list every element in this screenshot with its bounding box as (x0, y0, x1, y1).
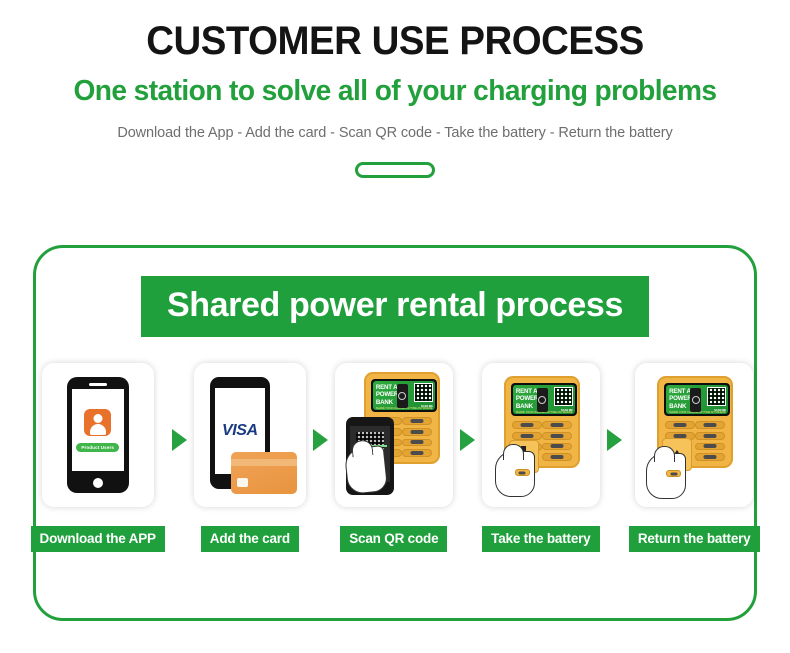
battery-slot (542, 443, 572, 451)
battery-slot (402, 428, 432, 436)
step-2-illustration-card: VISA (194, 363, 306, 507)
battery-slot (695, 421, 725, 429)
step-1-label: Download the APP (31, 526, 165, 552)
avatar-body-shape (90, 424, 106, 435)
kiosk-display-content: RENT A POWER BANK SHARE YOUR CHARGE ANYT… (666, 385, 728, 414)
battery-slot (695, 432, 725, 440)
kiosk-display-content: RENT A POWER BANK SHARE YOUR CHARGE ANYT… (513, 385, 575, 414)
battery-slot (402, 449, 432, 457)
step-add-the-card[interactable]: VISA Add the card (194, 363, 306, 552)
battery-slot (512, 421, 542, 429)
card-stripe-shape (231, 459, 297, 466)
step-5-label: Return the battery (629, 526, 760, 552)
arrow-right-icon-2 (313, 429, 328, 451)
step-take-the-battery[interactable]: RENT A POWER BANK SHARE YOUR CHARGE ANYT… (482, 363, 600, 552)
step-2-label: Add the card (201, 526, 299, 552)
kiosk-illustration: RENT A POWER BANK SHARE YOUR CHARGE ANYT… (638, 365, 750, 505)
step-4-label: Take the battery (482, 526, 599, 552)
credit-card-icon (231, 452, 297, 494)
arrow-right-icon-1 (172, 429, 187, 451)
battery-slot (402, 439, 432, 447)
page-header: CUSTOMER USE PROCESS One station to solv… (0, 0, 790, 178)
qr-scan-label: SCAN ME (421, 405, 433, 408)
section-banner: Shared power rental process (141, 276, 649, 337)
power-bank-product-icon (397, 384, 408, 408)
slot-column-right (542, 421, 572, 461)
step-4-illustration-card: RENT A POWER BANK SHARE YOUR CHARGE ANYT… (482, 363, 600, 507)
qr-code-icon (707, 387, 726, 406)
power-bank-product-icon (537, 388, 548, 412)
step-return-the-battery[interactable]: RENT A POWER BANK SHARE YOUR CHARGE ANYT… (629, 363, 760, 552)
kiosk-display: RENT A POWER BANK SHARE YOUR CHARGE ANYT… (371, 379, 437, 412)
steps-row: Product Users Download the APP VISA (36, 363, 754, 552)
hand-icon (344, 445, 389, 495)
step-1-illustration-card: Product Users (42, 363, 154, 507)
qr-scan-label: SCAN ME (714, 409, 726, 412)
battery-slot (402, 417, 432, 425)
visa-logo: VISA (222, 422, 258, 440)
battery-slot (512, 432, 542, 440)
slot-column-right (695, 421, 725, 461)
kiosk-illustration: RENT A POWER BANK SHARE YOUR CHARGE ANYT… (485, 365, 597, 505)
slot-column-right (402, 417, 432, 457)
battery-unit-icon (666, 470, 681, 477)
banner-container: Shared power rental process (36, 276, 754, 337)
qr-code-icon (414, 383, 433, 402)
page-title: CUSTOMER USE PROCESS (16, 18, 774, 64)
step-scan-qr-code[interactable]: RENT A POWER BANK SHARE YOUR CHARGE ANYT… (335, 363, 453, 552)
battery-slot (695, 453, 725, 461)
kiosk-display: RENT A POWER BANK SHARE YOUR CHARGE ANYT… (664, 383, 730, 416)
avatar-head-shape (93, 414, 102, 423)
page-subtitle: One station to solve all of your chargin… (12, 74, 778, 109)
battery-slot (542, 432, 572, 440)
battery-unit-icon (515, 469, 530, 476)
product-users-badge: Product Users (76, 443, 119, 452)
power-bank-product-icon (690, 388, 701, 412)
user-avatar-icon (84, 409, 111, 436)
battery-slot (542, 421, 572, 429)
kiosk-display-content: RENT A POWER BANK SHARE YOUR CHARGE ANYT… (373, 381, 435, 410)
phone-home-button-icon (93, 478, 103, 488)
visa-illustration: VISA (198, 370, 302, 500)
battery-slot (665, 421, 695, 429)
kiosk-illustration: RENT A POWER BANK SHARE YOUR CHARGE ANYT… (338, 365, 450, 505)
qr-scan-label: SCAN ME (561, 409, 573, 412)
arrow-right-icon-4 (607, 429, 622, 451)
phone-screen: Product Users (72, 389, 124, 471)
step-download-the-app[interactable]: Product Users Download the APP (31, 363, 165, 552)
step-3-illustration-card: RENT A POWER BANK SHARE YOUR CHARGE ANYT… (335, 363, 453, 507)
battery-slot (695, 443, 725, 451)
phone-speaker-icon (89, 383, 107, 386)
process-caption: Download the App - Add the card - Scan Q… (0, 125, 790, 141)
step-5-illustration-card: RENT A POWER BANK SHARE YOUR CHARGE ANYT… (635, 363, 753, 507)
card-chip-icon (237, 478, 248, 487)
qr-code-icon (554, 387, 573, 406)
kiosk-display: RENT A POWER BANK SHARE YOUR CHARGE ANYT… (511, 383, 577, 416)
arrow-right-icon-3 (460, 429, 475, 451)
smartphone-icon: Product Users (67, 377, 129, 493)
step-3-label: Scan QR code (340, 526, 447, 552)
process-panel: Shared power rental process Product User… (33, 245, 757, 621)
battery-slot (542, 453, 572, 461)
pill-divider-icon (355, 162, 435, 178)
